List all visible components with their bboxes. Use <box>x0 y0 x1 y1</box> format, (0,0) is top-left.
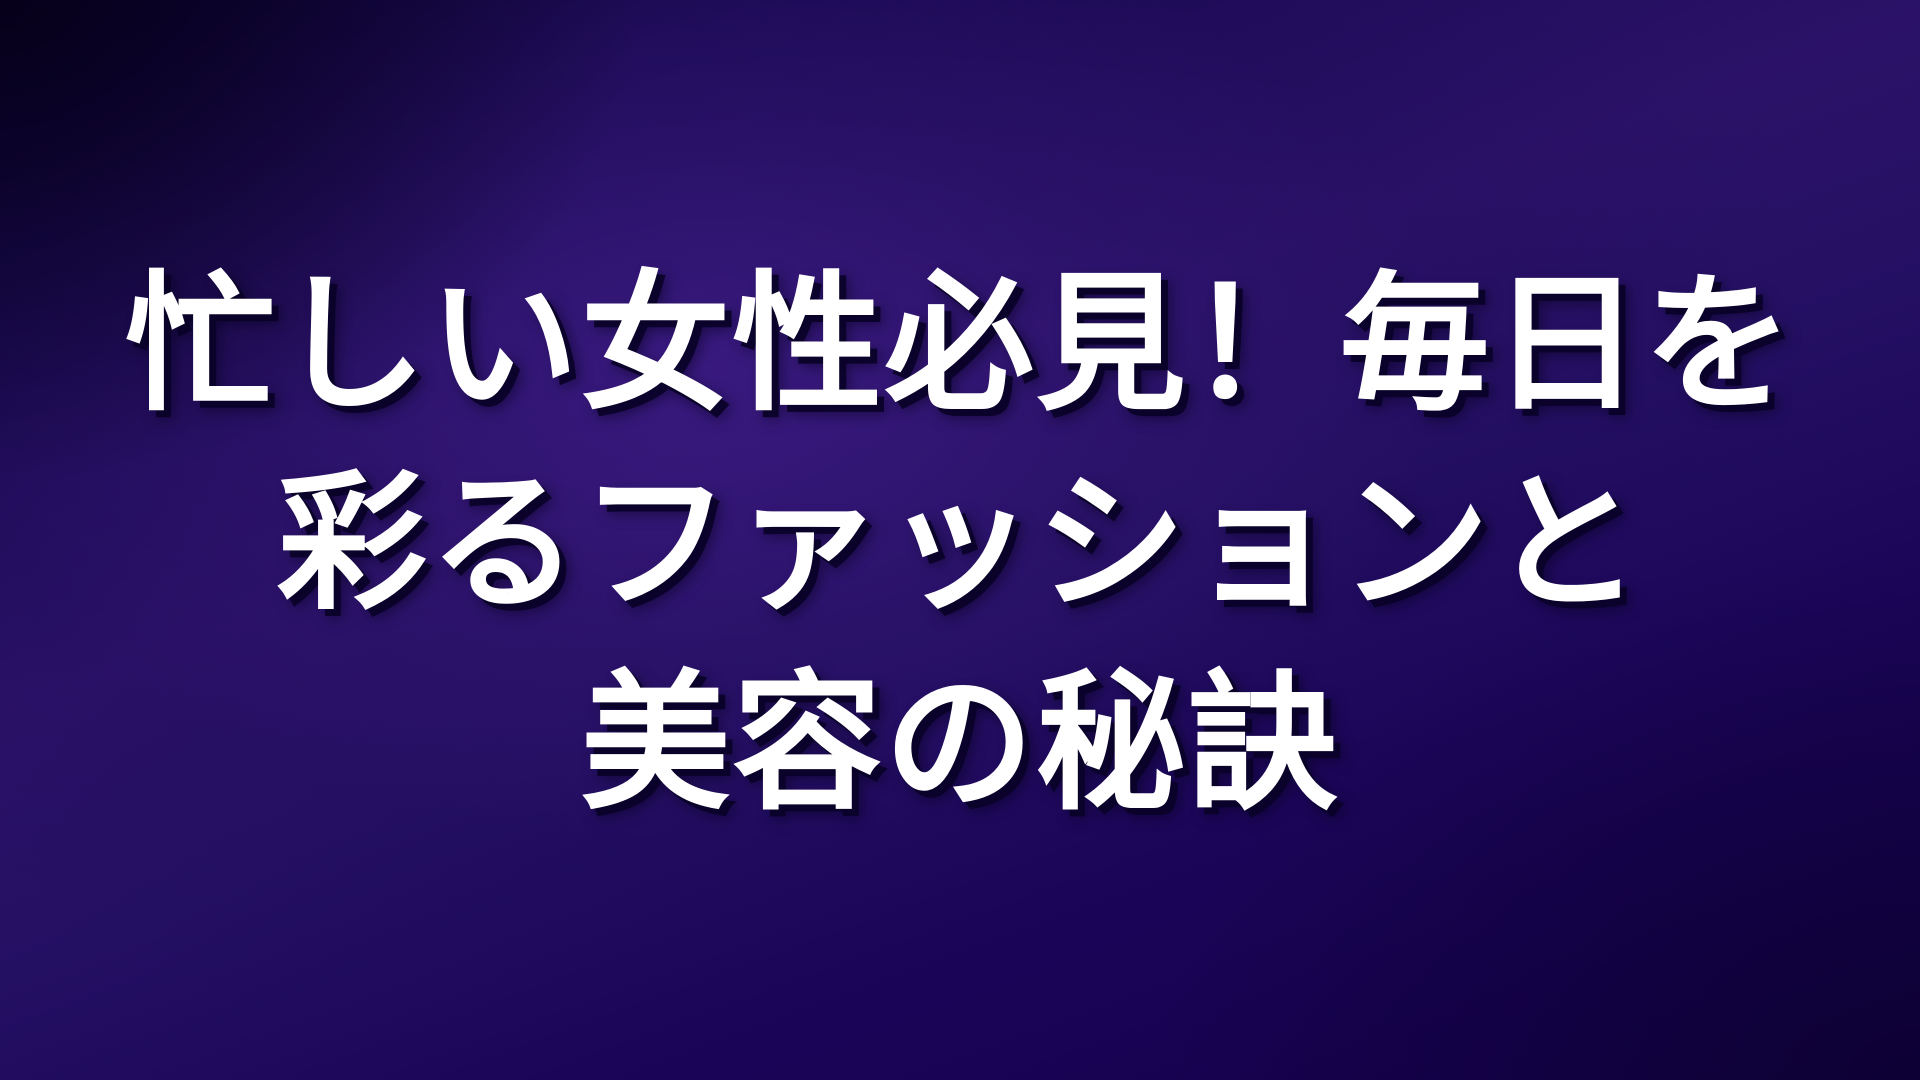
headline-line-2: 彩るファッションと <box>277 445 1643 645</box>
title-card-slide: 忙しい女性必見！毎日を 彩るファッションと 美容の秘訣 <box>0 0 1920 1080</box>
headline-line-1: 忙しい女性必見！毎日を <box>125 246 1795 446</box>
headline-line-3: 美容の秘訣 <box>580 645 1339 845</box>
headline-text-block: 忙しい女性必見！毎日を 彩るファッションと 美容の秘訣 <box>0 0 1920 1080</box>
